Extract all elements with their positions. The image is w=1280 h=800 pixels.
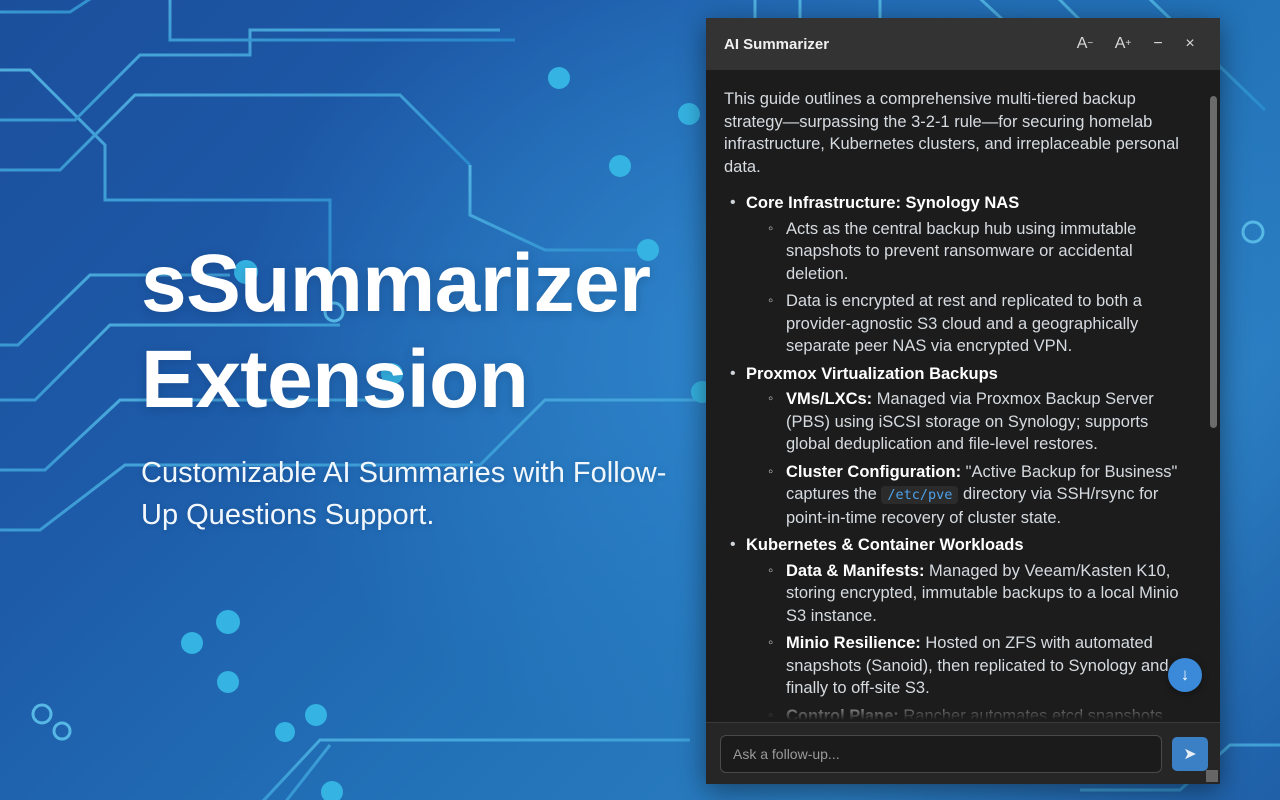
scrollbar-thumb[interactable]	[1210, 96, 1217, 428]
section-item: Acts as the central backup hub using imm…	[746, 218, 1194, 286]
section-item-label: Minio Resilience:	[786, 634, 921, 652]
section-item-label: Data & Manifests:	[786, 562, 924, 580]
section-item-label: Control Plane:	[786, 707, 899, 723]
send-button[interactable]: ➤	[1172, 737, 1208, 771]
section-item-list: Acts as the central backup hub using imm…	[746, 218, 1194, 358]
section-item: VMs/LXCs: Managed via Proxmox Backup Ser…	[746, 388, 1194, 456]
section-item: Data & Manifests: Managed by Veeam/Kaste…	[746, 560, 1194, 628]
section-item-list: VMs/LXCs: Managed via Proxmox Backup Ser…	[746, 388, 1194, 529]
summary-section-list: Core Infrastructure: Synology NAS Acts a…	[724, 192, 1194, 722]
section-item: Data is encrypted at rest and replicated…	[746, 290, 1194, 358]
scroll-to-bottom-button[interactable]: ↓	[1168, 658, 1202, 692]
follow-up-input[interactable]	[720, 735, 1162, 773]
content-scrollbar[interactable]	[1209, 70, 1218, 722]
panel-title: AI Summarizer	[724, 36, 1066, 53]
summary-section: Kubernetes & Container Workloads Data & …	[724, 534, 1194, 722]
summary-content: This guide outlines a comprehensive mult…	[706, 70, 1220, 722]
section-heading: Proxmox Virtualization Backups	[746, 363, 1194, 386]
close-button[interactable]: ×	[1174, 29, 1206, 59]
section-item-text: Data is encrypted at rest and replicated…	[786, 292, 1142, 355]
section-item-text: Acts as the central backup hub using imm…	[786, 220, 1136, 283]
section-item-label: Cluster Configuration:	[786, 463, 961, 481]
summary-section: Core Infrastructure: Synology NAS Acts a…	[724, 192, 1194, 358]
page-subtitle: Customizable AI Summaries with Follow-Up…	[141, 452, 671, 536]
summary-body: This guide outlines a comprehensive mult…	[706, 70, 1220, 722]
hero-block: sSummarizer Extension Customizable AI Su…	[141, 236, 701, 536]
section-heading: Core Infrastructure: Synology NAS	[746, 192, 1194, 215]
page-title: sSummarizer Extension	[141, 236, 701, 428]
decrease-font-letter: A	[1077, 36, 1088, 52]
increase-font-size-button[interactable]: A+	[1104, 29, 1142, 59]
arrow-down-icon: ↓	[1181, 665, 1190, 685]
minimize-button[interactable]: −	[1142, 29, 1174, 59]
section-item-label: VMs/LXCs:	[786, 390, 872, 408]
increase-font-letter: A	[1115, 36, 1126, 52]
summary-section: Proxmox Virtualization Backups VMs/LXCs:…	[724, 363, 1194, 530]
decrease-font-size-button[interactable]: A−	[1066, 29, 1104, 59]
plus-icon: +	[1125, 39, 1131, 49]
summary-intro: This guide outlines a comprehensive mult…	[724, 88, 1194, 178]
resize-grip[interactable]	[1206, 770, 1218, 782]
section-item-list: Data & Manifests: Managed by Veeam/Kaste…	[746, 560, 1194, 723]
minimize-icon: −	[1153, 36, 1162, 52]
section-heading: Kubernetes & Container Workloads	[746, 534, 1194, 557]
panel-header: AI Summarizer A− A+ − ×	[706, 18, 1220, 70]
close-icon: ×	[1185, 36, 1194, 52]
ai-summarizer-panel: AI Summarizer A− A+ − × This guide outli…	[706, 18, 1220, 784]
inline-code: /etc/pve	[881, 486, 958, 504]
minus-icon: −	[1087, 39, 1093, 49]
section-item: Control Plane: Rancher automates etcd sn…	[746, 705, 1194, 723]
section-item: Cluster Configuration: "Active Backup fo…	[746, 461, 1194, 530]
page-root: sSummarizer Extension Customizable AI Su…	[0, 0, 1280, 800]
section-item: Minio Resilience: Hosted on ZFS with aut…	[746, 632, 1194, 700]
send-icon: ➤	[1183, 744, 1196, 764]
follow-up-bar: ➤	[706, 722, 1220, 784]
